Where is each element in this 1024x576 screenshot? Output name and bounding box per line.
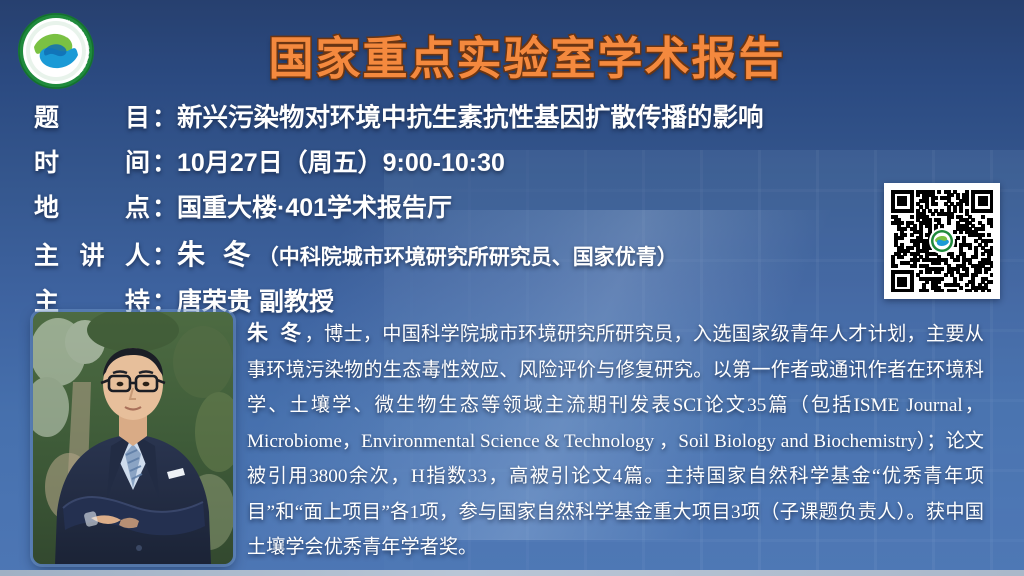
- info-colon-location: ：: [152, 188, 177, 224]
- info-colon-topic: ：: [152, 98, 177, 134]
- info-value-time: 10月27日（周五）9:00-10:30: [177, 143, 505, 179]
- info-value-location: 国重大楼·401学术报告厅: [177, 188, 452, 224]
- lecture-poster: 城市环境与健康国家重点实验室 国家重点实验室学术报告 题 目 ： 新兴污染物对环…: [0, 0, 1024, 576]
- wechat-qr-code[interactable]: [884, 183, 1000, 299]
- info-value-speaker-name: 朱 冬: [177, 233, 256, 273]
- info-label-speaker: 主讲人: [34, 236, 152, 272]
- info-label-topic: 题 目: [34, 98, 152, 134]
- bottom-edge-strip: [0, 570, 1024, 576]
- info-row-location: 地 点 ： 国重大楼·401学术报告厅: [34, 188, 894, 224]
- page-title: 国家重点实验室学术报告: [0, 22, 1024, 87]
- bio-text: ，博士，中国科学院城市环境研究所研究员，入选国家级青年人才计划，主要从事环境污染…: [247, 324, 984, 558]
- speaker-portrait: [33, 312, 233, 564]
- bio-speaker-name: 朱 冬: [247, 322, 305, 345]
- info-label-location: 地 点: [34, 188, 152, 224]
- info-colon-time: ：: [152, 143, 177, 179]
- info-label-time: 时 间: [34, 143, 152, 179]
- info-row-topic: 题 目 ： 新兴污染物对环境中抗生素抗性基因扩散传播的影响: [34, 97, 894, 134]
- info-value-topic: 新兴污染物对环境中抗生素抗性基因扩散传播的影响: [177, 97, 764, 134]
- info-row-speaker: 主讲人 ： 朱 冬 （中科院城市环境研究所研究员、国家优青）: [34, 233, 894, 273]
- speaker-biography: 朱 冬，博士，中国科学院城市环境研究所研究员，入选国家级青年人才计划，主要从事环…: [247, 316, 984, 568]
- info-value-speaker-affiliation: （中科院城市环境研究所研究员、国家优青）: [258, 241, 678, 271]
- info-colon-speaker: ：: [152, 236, 177, 272]
- qr-center-logo-icon: [929, 228, 955, 254]
- info-row-time: 时 间 ： 10月27日（周五）9:00-10:30: [34, 143, 894, 179]
- lecture-info-block: 题 目 ： 新兴污染物对环境中抗生素抗性基因扩散传播的影响 时 间 ： 10月2…: [34, 97, 894, 327]
